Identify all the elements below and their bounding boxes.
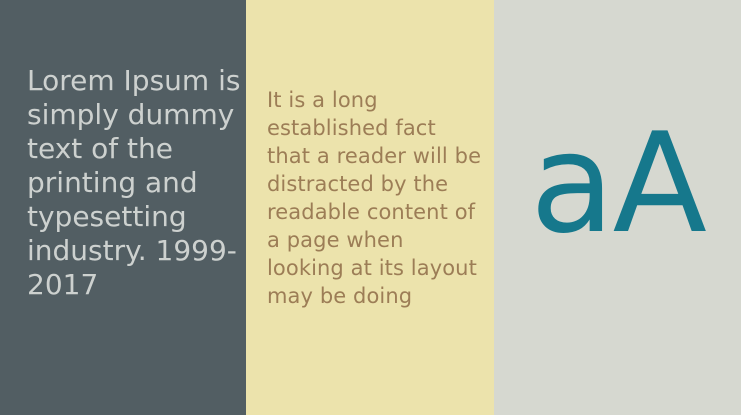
- specimen-panel-cream: It is a long established fact that a rea…: [246, 0, 494, 415]
- specimen-panel-dark-slate: Lorem Ipsum is simply dummy text of the …: [0, 0, 246, 415]
- lorem-ipsum-paragraph: Lorem Ipsum is simply dummy text of the …: [27, 64, 242, 302]
- font-specimen-canvas: Lorem Ipsum is simply dummy text of the …: [0, 0, 741, 415]
- specimen-panel-grey: aA: [494, 0, 741, 415]
- established-fact-paragraph: It is a long established fact that a rea…: [267, 86, 482, 310]
- glyph-pair-aA: aA: [494, 104, 741, 264]
